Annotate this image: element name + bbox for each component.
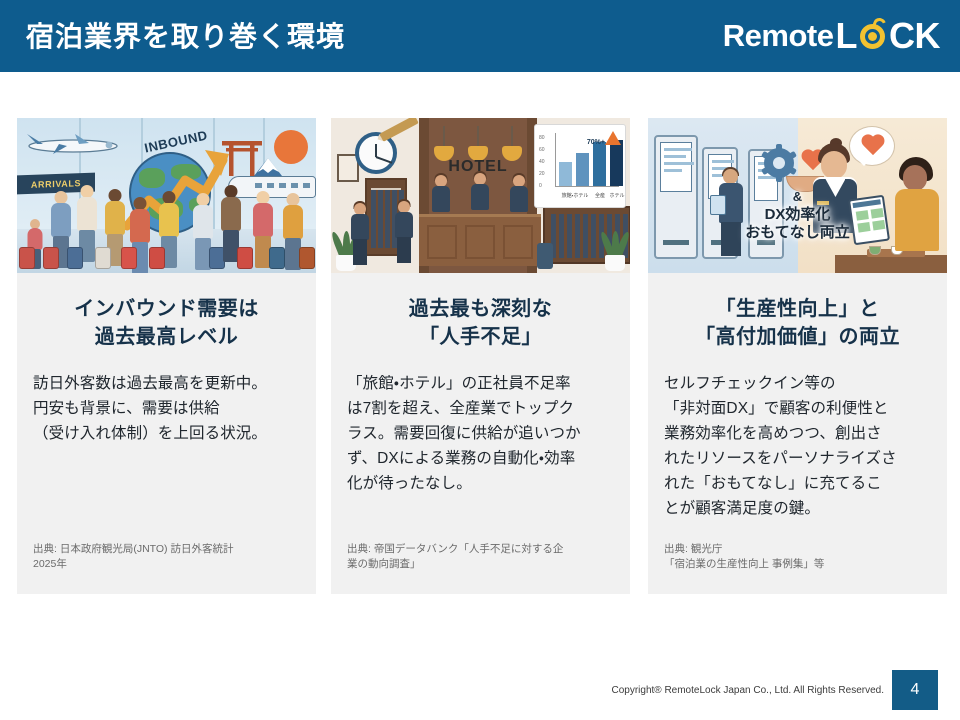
slide: 宿泊業界を取り巻く環境 RemoteL CK bbox=[0, 0, 960, 720]
logo-text-remote: Remote bbox=[723, 18, 834, 54]
labor-shortage-bar-chart: 0 20 40 60 80 旅館・ホテル 全産 ホテル 70%+ bbox=[534, 124, 626, 208]
logo-letters-ck: CK bbox=[889, 15, 940, 57]
overlay-line-2: おもてなし両立 bbox=[688, 224, 908, 242]
hotel-staff bbox=[429, 175, 453, 221]
traveler-crowd bbox=[17, 167, 316, 271]
overlay-ampersand: & bbox=[688, 188, 908, 206]
card-body-labor-shortage: 過去最も深刻な 「人手不足」 「旅館・ホテル」の正社員不足率 は7割を超え、全産… bbox=[331, 273, 630, 594]
card-body-text: 訪日外客数は過去最高を更新中。 円安も背景に、需要は供給 （受け入れ体制）を上回… bbox=[33, 371, 300, 446]
card-heading: インバウンド需要は 過去最高レベル bbox=[33, 295, 300, 351]
hotel-reception-illustration: HOTEL bbox=[331, 118, 630, 273]
card-productivity-dx: & DX効率化 おもてなし両立 「生産性向上」と 「高付加価値」の両立 セルフチ… bbox=[648, 118, 947, 594]
card-body-text: 「旅館・ホテル」の正社員不足率 は7割を超え、全産業でトップク ラス。需要回復に… bbox=[347, 371, 614, 496]
slide-header: 宿泊業界を取り巻く環境 RemoteL CK bbox=[0, 0, 960, 72]
page-title: 宿泊業界を取り巻く環境 bbox=[26, 20, 345, 54]
gear-icon bbox=[764, 148, 794, 178]
card-inbound: ARRIVALS INBOUND bbox=[17, 118, 316, 594]
dx-omotenashi-overlay: & DX効率化 おもてなし両立 bbox=[688, 188, 908, 242]
inbound-tourism-illustration: ARRIVALS INBOUND bbox=[17, 118, 316, 273]
remotelock-logo: RemoteL CK bbox=[723, 14, 940, 58]
page-number-badge: 4 bbox=[892, 670, 938, 710]
chart-annotation-70pct: 70%+ bbox=[587, 139, 605, 146]
card-source: 出典: 日本政府観光局(JNTO) 訪日外客統計 2025年 bbox=[33, 542, 306, 572]
suitcase-icon bbox=[537, 243, 553, 269]
tea-cup-icon bbox=[869, 246, 881, 255]
card-heading: 「生産性向上」と 「高付加価値」の両立 bbox=[664, 295, 931, 351]
card-labor-shortage: HOTEL bbox=[331, 118, 630, 594]
airplane-icon bbox=[23, 132, 119, 158]
card-body-productivity-dx: 「生産性向上」と 「高付加価値」の両立 セルフチェックイン等の 「非対面DX」で… bbox=[648, 273, 947, 594]
card-body-text: セルフチェックイン等の 「非対面DX」で顧客の利便性と 業務効率化を高めつつ、創… bbox=[664, 371, 931, 521]
card-body-inbound: インバウンド需要は 過去最高レベル 訪日外客数は過去最高を更新中。 円安も背景に… bbox=[17, 273, 316, 594]
hotel-staff bbox=[507, 175, 531, 221]
hotel-staff bbox=[347, 203, 373, 267]
logo-lock-o-icon bbox=[858, 21, 888, 51]
plant-icon bbox=[602, 227, 628, 271]
logo-letter-l: L bbox=[836, 15, 858, 57]
hotel-staff-busy bbox=[467, 173, 493, 223]
card-heading: 過去最も深刻な 「人手不足」 bbox=[347, 295, 614, 351]
hotel-staff bbox=[391, 201, 417, 267]
card-source: 出典: 観光庁 「宿泊業の生産性向上 事例集」等 bbox=[664, 542, 937, 572]
warning-triangle-icon bbox=[605, 131, 621, 145]
card-source: 出典: 帝国データバンク「人手不足に対する企 業の動向調査」 bbox=[347, 542, 620, 572]
overlay-line-1: DX効率化 bbox=[688, 206, 908, 224]
self-checkin-dx-illustration: & DX効率化 おもてなし両立 bbox=[648, 118, 947, 273]
copyright-notice: Copyright® RemoteLock Japan Co., Ltd. Al… bbox=[612, 685, 885, 696]
